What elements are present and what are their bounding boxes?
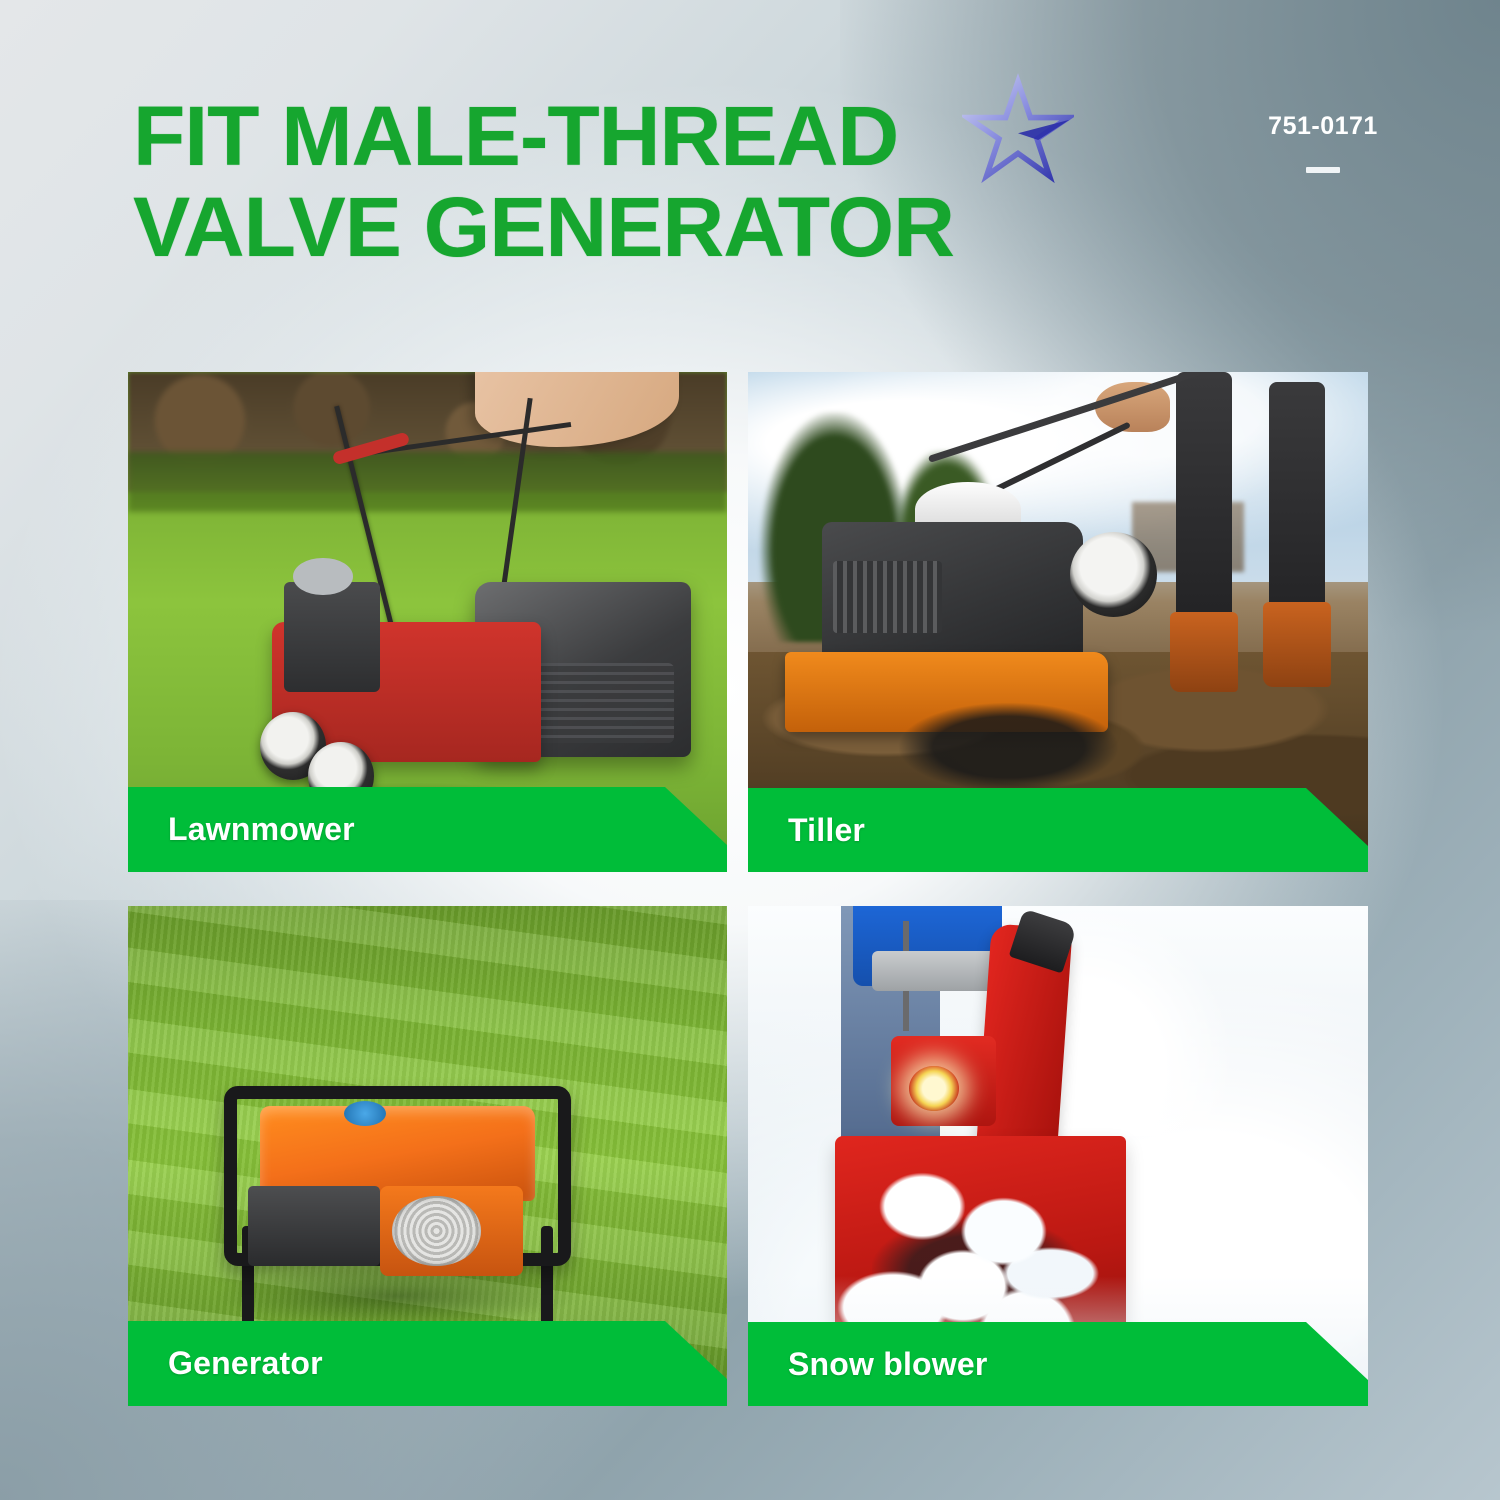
card-label-banner-lawnmower: Lawnmower — [128, 787, 727, 872]
card-label-banner-tiller: Tiller — [748, 788, 1368, 872]
title-line-2: VALVE GENERATOR — [133, 187, 1051, 268]
part-number-divider — [1238, 160, 1408, 178]
part-number: 751-0171 — [1238, 112, 1408, 141]
page-title: FIT MALE-THREADVALVE GENERATOR — [133, 96, 1051, 267]
application-card-lawnmower[interactable]: Lawnmower — [128, 372, 727, 872]
card-label-generator: Generator — [128, 1345, 323, 1382]
card-label-tiller: Tiller — [748, 812, 865, 849]
application-card-tiller[interactable]: Tiller — [748, 372, 1368, 872]
title-line-1: FIT MALE-THREAD — [133, 89, 898, 183]
card-label-banner-snow-blower: Snow blower — [748, 1322, 1368, 1406]
card-label-banner-generator: Generator — [128, 1321, 727, 1406]
header: FIT MALE-THREADVALVE GENERATOR 751-0171 — [0, 0, 1500, 330]
product-application-grid: Lawnmower Tiller — [128, 372, 1368, 1406]
application-card-generator[interactable]: Generator — [128, 906, 727, 1406]
application-card-snow-blower[interactable]: Snow blower — [748, 906, 1368, 1406]
card-label-snow-blower: Snow blower — [748, 1346, 988, 1383]
card-label-lawnmower: Lawnmower — [128, 811, 355, 848]
